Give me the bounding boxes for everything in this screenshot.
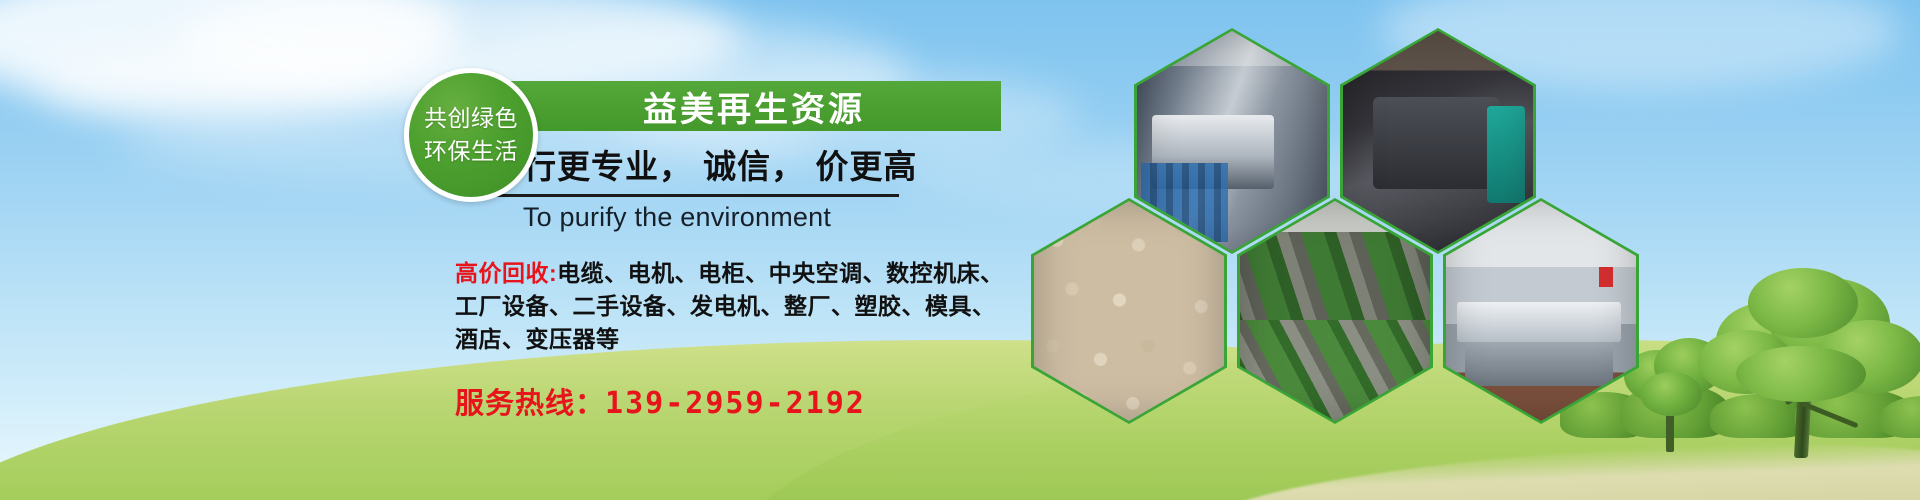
- gallery-item-commercial-kitchen-photo[interactable]: [1443, 198, 1639, 424]
- eco-slogan-badge: 共创绿色 环保生活: [404, 68, 538, 202]
- product-gallery: [1130, 28, 1770, 478]
- hex-photo-clip: [1446, 201, 1636, 421]
- badge-line-2: 环保生活: [424, 135, 518, 168]
- recycle-items-line-2: 工厂设备、二手设备、发电机、整厂、塑胶、模具、: [455, 290, 1075, 323]
- kitchen-red-sign: [1599, 267, 1613, 287]
- recycle-keyword: 高价回收:: [455, 260, 557, 286]
- cloud-icon: [0, 0, 460, 110]
- gallery-item-green-moulds-photo[interactable]: [1237, 198, 1433, 424]
- service-hotline[interactable]: 服务热线：139-2959-2192: [455, 380, 1075, 422]
- recycle-items-block: 高价回收:电缆、电机、电柜、中央空调、数控机床、 工厂设备、二手设备、发电机、整…: [455, 257, 1075, 356]
- hex-photo-clip: [1240, 201, 1430, 421]
- green-moulds-photo: [1240, 201, 1430, 421]
- company-name: 益美再生资源: [643, 82, 865, 131]
- marketing-text-block: 比同行更专业， 诚信， 价更高 To purify the environmen…: [455, 140, 1075, 422]
- recycle-items-line-1: 电缆、电机、电柜、中央空调、数控机床、: [557, 260, 1004, 286]
- recycle-items-line-3: 酒店、变压器等: [455, 323, 1075, 356]
- recycling-company-banner: 益美再生资源 共创绿色 环保生活 比同行更专业， 诚信， 价更高 To puri…: [0, 0, 1920, 500]
- commercial-kitchen-photo: [1446, 201, 1636, 421]
- recycle-line-1: 高价回收:电缆、电机、电柜、中央空调、数控机床、: [455, 257, 1075, 290]
- slogan-english: To purify the environment: [455, 202, 899, 233]
- hotline-label: 服务热线：: [455, 388, 605, 420]
- hotline-number[interactable]: 139-2959-2192: [605, 386, 866, 421]
- cloud-icon: [40, 40, 460, 130]
- badge-line-1: 共创绿色: [424, 102, 518, 135]
